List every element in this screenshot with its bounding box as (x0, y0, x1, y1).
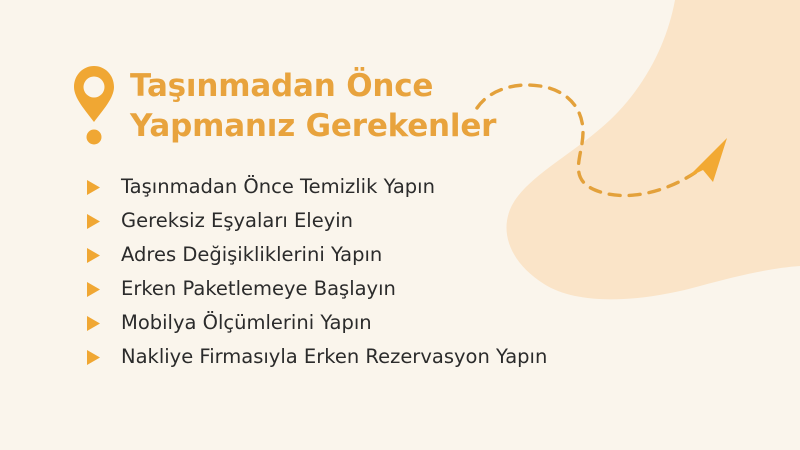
triangle-right-icon (86, 281, 101, 298)
triangle-right-icon (86, 349, 101, 366)
list-item-label: Gereksiz Eşyaları Eleyin (121, 209, 353, 233)
triangle-right-icon (86, 315, 101, 332)
header: Taşınmadan Önce Yapmanız Gerekenler (72, 62, 496, 148)
triangle-right-icon (86, 247, 101, 264)
list-item: Gereksiz Eşyaları Eleyin (86, 204, 547, 238)
list-item: Mobilya Ölçümlerini Yapın (86, 306, 547, 340)
list-item: Taşınmadan Önce Temizlik Yapın (86, 170, 547, 204)
list-item: Nakliye Firmasıyla Erken Rezervasyon Yap… (86, 340, 547, 374)
list-item-label: Taşınmadan Önce Temizlik Yapın (121, 175, 435, 199)
slide-canvas: Taşınmadan Önce Yapmanız Gerekenler Taşı… (0, 0, 800, 450)
list-item-label: Erken Paketlemeye Başlayın (121, 277, 396, 301)
title-line-2: Yapmanız Gerekenler (130, 106, 496, 146)
location-pin-icon (72, 64, 116, 148)
list-item: Adres Değişikliklerini Yapın (86, 238, 547, 272)
list-item-label: Mobilya Ölçümlerini Yapın (121, 311, 372, 335)
list-item-label: Adres Değişikliklerini Yapın (121, 243, 382, 267)
title-line-1: Taşınmadan Önce (130, 66, 496, 106)
triangle-right-icon (86, 213, 101, 230)
page-title: Taşınmadan Önce Yapmanız Gerekenler (130, 66, 496, 146)
triangle-right-icon (86, 179, 101, 196)
list-item: Erken Paketlemeye Başlayın (86, 272, 547, 306)
list-item-label: Nakliye Firmasıyla Erken Rezervasyon Yap… (121, 345, 547, 369)
checklist: Taşınmadan Önce Temizlik Yapın Gereksiz … (86, 170, 547, 374)
